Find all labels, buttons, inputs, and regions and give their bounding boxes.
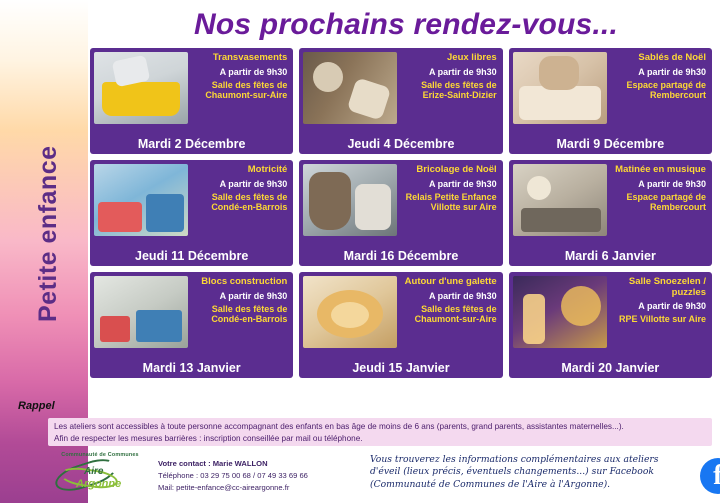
event-card-top: Jeux libres A partir de 9h30 Salle des f… xyxy=(303,52,498,134)
facebook-icon[interactable]: f xyxy=(700,458,720,494)
logo-communaute-de-communes: Communauté de Communes Aire Argonne xyxy=(50,452,150,500)
photo-bricolage-de-noel xyxy=(303,164,397,236)
event-place: Espace partagé de Rembercourt xyxy=(612,192,706,212)
event-title: Salle Snoezelen / puzzles xyxy=(612,277,706,298)
photo-motricite xyxy=(94,164,188,236)
event-place: Relais Petite Enfance Villotte sur Aire xyxy=(402,192,496,212)
event-title: Jeux libres xyxy=(402,53,496,64)
event-place: Salle des fêtes de Erize-Saint-Dizier xyxy=(402,80,496,100)
photo-autour-dune-galette xyxy=(303,276,397,348)
event-title: Transvasements xyxy=(193,53,287,64)
event-date: Jeudi 11 Décembre xyxy=(94,246,289,266)
event-card-top: Matinée en musique A partir de 9h30 Espa… xyxy=(513,164,708,246)
notice-line-1: Les ateliers sont accessibles à toute pe… xyxy=(54,421,706,433)
vertical-title-wrap: Petite enfance xyxy=(40,300,41,301)
event-date: Jeudi 15 Janvier xyxy=(303,358,498,378)
page-title: Nos prochains rendez-vous... xyxy=(100,8,712,42)
event-title: Autour d'une galette xyxy=(402,277,496,288)
notice-line-2: Afin de respecter les mesures barrières … xyxy=(54,433,706,445)
event-info: Autour d'une galette A partir de 9h30 Sa… xyxy=(402,276,498,358)
event-card[interactable]: Sablés de Noël A partir de 9h30 Espace p… xyxy=(509,48,712,154)
events-grid: Transvasements A partir de 9h30 Salle de… xyxy=(90,48,712,378)
notice-box: Les ateliers sont accessibles à toute pe… xyxy=(48,418,712,446)
photo-matinee-en-musique xyxy=(513,164,607,236)
contact-phone: Téléphone : 03 29 75 00 68 / 07 49 33 69… xyxy=(158,470,358,482)
facebook-glyph: f xyxy=(700,456,720,494)
logo-org-name: Communauté de Communes xyxy=(50,452,150,458)
event-date: Mardi 20 Janvier xyxy=(513,358,708,378)
photo-sables-de-noel xyxy=(513,52,607,124)
event-card[interactable]: Transvasements A partir de 9h30 Salle de… xyxy=(90,48,293,154)
event-card[interactable]: Jeux libres A partir de 9h30 Salle des f… xyxy=(299,48,502,154)
rappel-label: Rappel xyxy=(18,400,55,412)
logo-mark: Aire Argonne xyxy=(50,459,146,493)
contact-block: Votre contact : Marie WALLON Téléphone :… xyxy=(158,458,358,493)
event-info: Sablés de Noël A partir de 9h30 Espace p… xyxy=(612,52,708,134)
event-time: A partir de 9h30 xyxy=(612,67,706,77)
event-date: Mardi 13 Janvier xyxy=(94,358,289,378)
event-info: Motricité A partir de 9h30 Salle des fêt… xyxy=(193,164,289,246)
event-card[interactable]: Blocs construction A partir de 9h30 Sall… xyxy=(90,272,293,378)
photo-jeux-libres xyxy=(303,52,397,124)
vertical-section-title: Petite enfance xyxy=(34,62,63,322)
event-card-top: Motricité A partir de 9h30 Salle des fêt… xyxy=(94,164,289,246)
event-time: A partir de 9h30 xyxy=(402,179,496,189)
event-title: Motricité xyxy=(193,165,287,176)
event-place: Espace partagé de Rembercourt xyxy=(612,80,706,100)
event-title: Sablés de Noël xyxy=(612,53,706,64)
event-info: Jeux libres A partir de 9h30 Salle des f… xyxy=(402,52,498,134)
event-card-top: Salle Snoezelen / puzzles A partir de 9h… xyxy=(513,276,708,358)
event-place: Salle des fêtes de Condé-en-Barrois xyxy=(193,192,287,212)
event-card[interactable]: Salle Snoezelen / puzzles A partir de 9h… xyxy=(509,272,712,378)
event-date: Mardi 16 Décembre xyxy=(303,246,498,266)
handwritten-note: Vous trouverez les informations compléme… xyxy=(370,454,670,491)
event-date: Mardi 2 Décembre xyxy=(94,134,289,154)
event-card[interactable]: Matinée en musique A partir de 9h30 Espa… xyxy=(509,160,712,266)
contact-heading: Votre contact : Marie WALLON xyxy=(158,458,358,470)
photo-transvasements xyxy=(94,52,188,124)
contact-mail[interactable]: Mail: petite-enfance@cc-aireargonne.fr xyxy=(158,482,358,494)
logo-word-argonne: Argonne xyxy=(76,478,121,490)
footer: Communauté de Communes Aire Argonne Votr… xyxy=(40,450,720,503)
event-card[interactable]: Bricolage de Noël A partir de 9h30 Relai… xyxy=(299,160,502,266)
event-title: Bricolage de Noël xyxy=(402,165,496,176)
event-time: A partir de 9h30 xyxy=(612,179,706,189)
event-date: Mardi 9 Décembre xyxy=(513,134,708,154)
event-time: A partir de 9h30 xyxy=(402,291,496,301)
event-card-top: Transvasements A partir de 9h30 Salle de… xyxy=(94,52,289,134)
event-info: Bricolage de Noël A partir de 9h30 Relai… xyxy=(402,164,498,246)
event-time: A partir de 9h30 xyxy=(612,301,706,311)
event-card-top: Autour d'une galette A partir de 9h30 Sa… xyxy=(303,276,498,358)
event-time: A partir de 9h30 xyxy=(193,179,287,189)
event-card[interactable]: Motricité A partir de 9h30 Salle des fêt… xyxy=(90,160,293,266)
event-card-top: Bricolage de Noël A partir de 9h30 Relai… xyxy=(303,164,498,246)
event-title: Blocs construction xyxy=(193,277,287,288)
event-info: Matinée en musique A partir de 9h30 Espa… xyxy=(612,164,708,246)
event-place: Salle des fêtes de Chaumont-sur-Aire xyxy=(193,80,287,100)
event-place: Salle des fêtes de Condé-en-Barrois xyxy=(193,304,287,324)
logo-word-aire: Aire xyxy=(84,466,103,477)
event-info: Transvasements A partir de 9h30 Salle de… xyxy=(193,52,289,134)
photo-salle-snoezelen xyxy=(513,276,607,348)
event-date: Jeudi 4 Décembre xyxy=(303,134,498,154)
event-title: Matinée en musique xyxy=(612,165,706,176)
event-time: A partir de 9h30 xyxy=(193,291,287,301)
event-card-top: Sablés de Noël A partir de 9h30 Espace p… xyxy=(513,52,708,134)
photo-blocs-construction xyxy=(94,276,188,348)
event-info: Salle Snoezelen / puzzles A partir de 9h… xyxy=(612,276,708,358)
event-date: Mardi 6 Janvier xyxy=(513,246,708,266)
event-card-top: Blocs construction A partir de 9h30 Sall… xyxy=(94,276,289,358)
event-time: A partir de 9h30 xyxy=(193,67,287,77)
event-place: RPE Villotte sur Aire xyxy=(612,314,706,324)
event-info: Blocs construction A partir de 9h30 Sall… xyxy=(193,276,289,358)
event-card[interactable]: Autour d'une galette A partir de 9h30 Sa… xyxy=(299,272,502,378)
event-place: Salle des fêtes de Chaumont-sur-Aire xyxy=(402,304,496,324)
event-time: A partir de 9h30 xyxy=(402,67,496,77)
